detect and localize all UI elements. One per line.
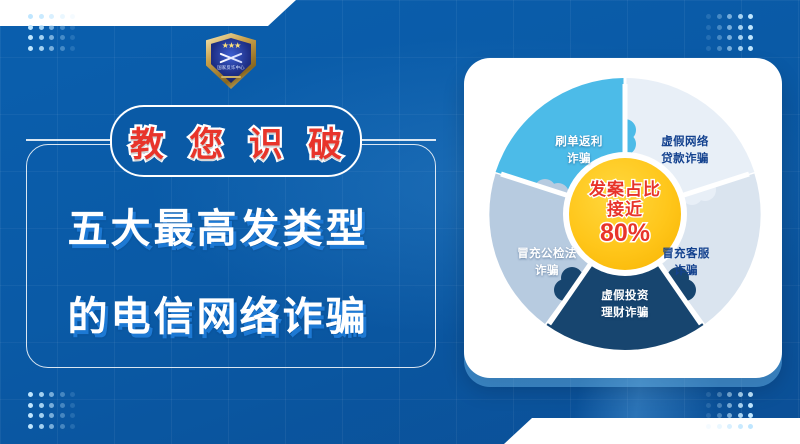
badge-bar bbox=[221, 76, 241, 78]
slice-label-shuadan-line2: 诈骗 bbox=[519, 151, 639, 168]
center-line-2: 接近 bbox=[607, 200, 643, 220]
slice-label-kefu: 冒充客服 诈骗 bbox=[627, 246, 745, 279]
star-icon: ★★★ bbox=[222, 42, 241, 50]
slice-label-shuadan: 刷单返利 诈骗 bbox=[519, 134, 639, 167]
center-percentage: 80% bbox=[600, 220, 650, 248]
pill-connector-left bbox=[26, 139, 110, 141]
slice-label-gongjianfa-line2: 诈骗 bbox=[487, 263, 607, 280]
dot-grid-top-right-icon bbox=[706, 14, 753, 51]
slice-label-loan-line2: 贷款诈骗 bbox=[625, 151, 745, 168]
bottom-right-white-notch bbox=[504, 418, 800, 444]
pill-connector-right bbox=[358, 139, 436, 141]
slice-label-gongjianfa-line1: 冒充公检法 bbox=[487, 246, 607, 263]
badge-micro-text: 国家反诈中心 bbox=[206, 65, 256, 71]
slice-label-kefu-line2: 诈骗 bbox=[627, 263, 745, 280]
center-line-1: 发案占比 bbox=[589, 180, 661, 200]
fraud-types-donut-chart: 发案占比 接近 80% 刷单返利 诈骗 虚假网络 贷款诈骗 冒充客服 诈骗 冒充… bbox=[489, 78, 761, 350]
slice-label-loan: 虚假网络 贷款诈骗 bbox=[625, 134, 745, 167]
headline-line-2: 的电信网络诈骗 bbox=[0, 284, 436, 342]
slice-label-kefu-line1: 冒充客服 bbox=[627, 246, 745, 263]
headline-pill-badge: 教 您 识 破 bbox=[110, 105, 362, 177]
dot-grid-bottom-left-icon bbox=[28, 392, 75, 429]
poster-canvas: ★★★ 国家反诈中心 教 您 识 破 五大最高发类型 的电信网络诈骗 bbox=[0, 0, 800, 444]
headline-line-1: 五大最高发类型 bbox=[0, 196, 436, 254]
slice-label-shuadan-line1: 刷单返利 bbox=[519, 134, 639, 151]
slice-label-invest: 虚假投资 理财诈骗 bbox=[561, 288, 689, 321]
crossed-swords-icon bbox=[219, 53, 243, 63]
slice-label-invest-line2: 理财诈骗 bbox=[561, 305, 689, 322]
dot-grid-bottom-right-icon bbox=[706, 392, 753, 429]
shield-badge-icon: ★★★ 国家反诈中心 bbox=[206, 33, 256, 89]
slice-label-loan-line1: 虚假网络 bbox=[625, 134, 745, 151]
dot-grid-top-left-icon bbox=[28, 14, 75, 51]
slice-label-gongjianfa: 冒充公检法 诈骗 bbox=[487, 246, 607, 279]
slice-label-invest-line1: 虚假投资 bbox=[561, 288, 689, 305]
pill-label: 教 您 识 破 bbox=[122, 117, 350, 166]
